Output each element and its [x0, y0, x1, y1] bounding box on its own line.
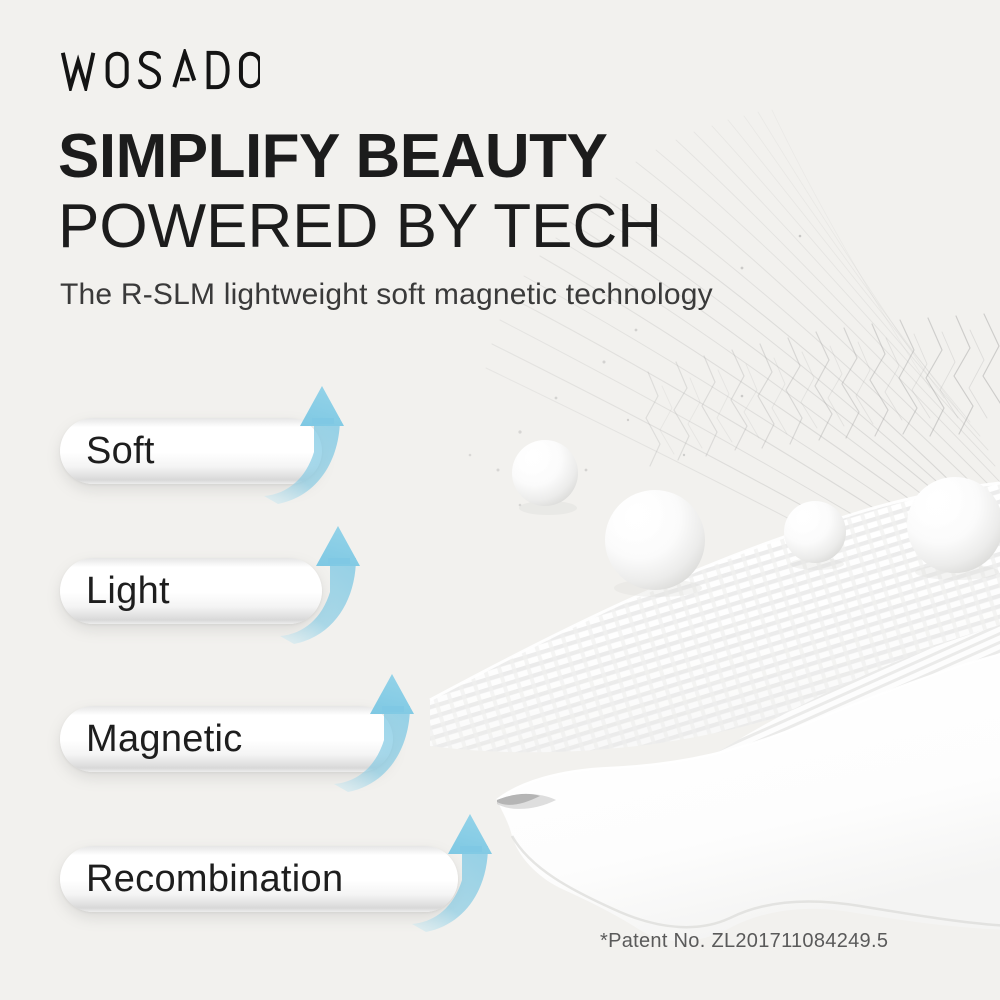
patent-note: *Patent No. ZL201711084249.5 — [600, 930, 888, 953]
feature-pill[interactable]: Light — [60, 558, 322, 624]
feature-pill-label: Recombination — [60, 860, 343, 898]
feature-pill-label: Magnetic — [60, 720, 243, 758]
wosado-wordmark — [60, 49, 260, 91]
feature-pill[interactable]: Magnetic — [60, 706, 393, 772]
feature-item: Magnetic — [60, 706, 453, 772]
brand-logo — [60, 48, 260, 92]
subtitle: The R-SLM lightweight soft magnetic tech… — [60, 277, 713, 313]
poster-canvas: SIMPLIFY BEAUTY POWERED BY TECH The R-SL… — [0, 0, 1000, 1000]
feature-item: Soft — [60, 418, 382, 484]
feature-item: Light — [60, 558, 382, 624]
feature-pill[interactable]: Recombination — [60, 846, 458, 912]
feature-pill[interactable]: Soft — [60, 418, 322, 484]
feature-pill-label: Soft — [60, 432, 155, 470]
headline-line-1: SIMPLIFY BEAUTY — [58, 126, 607, 188]
feature-pill-label: Light — [60, 572, 170, 610]
feature-item: Recombination — [60, 846, 518, 912]
headline-line-2: POWERED BY TECH — [58, 196, 662, 258]
